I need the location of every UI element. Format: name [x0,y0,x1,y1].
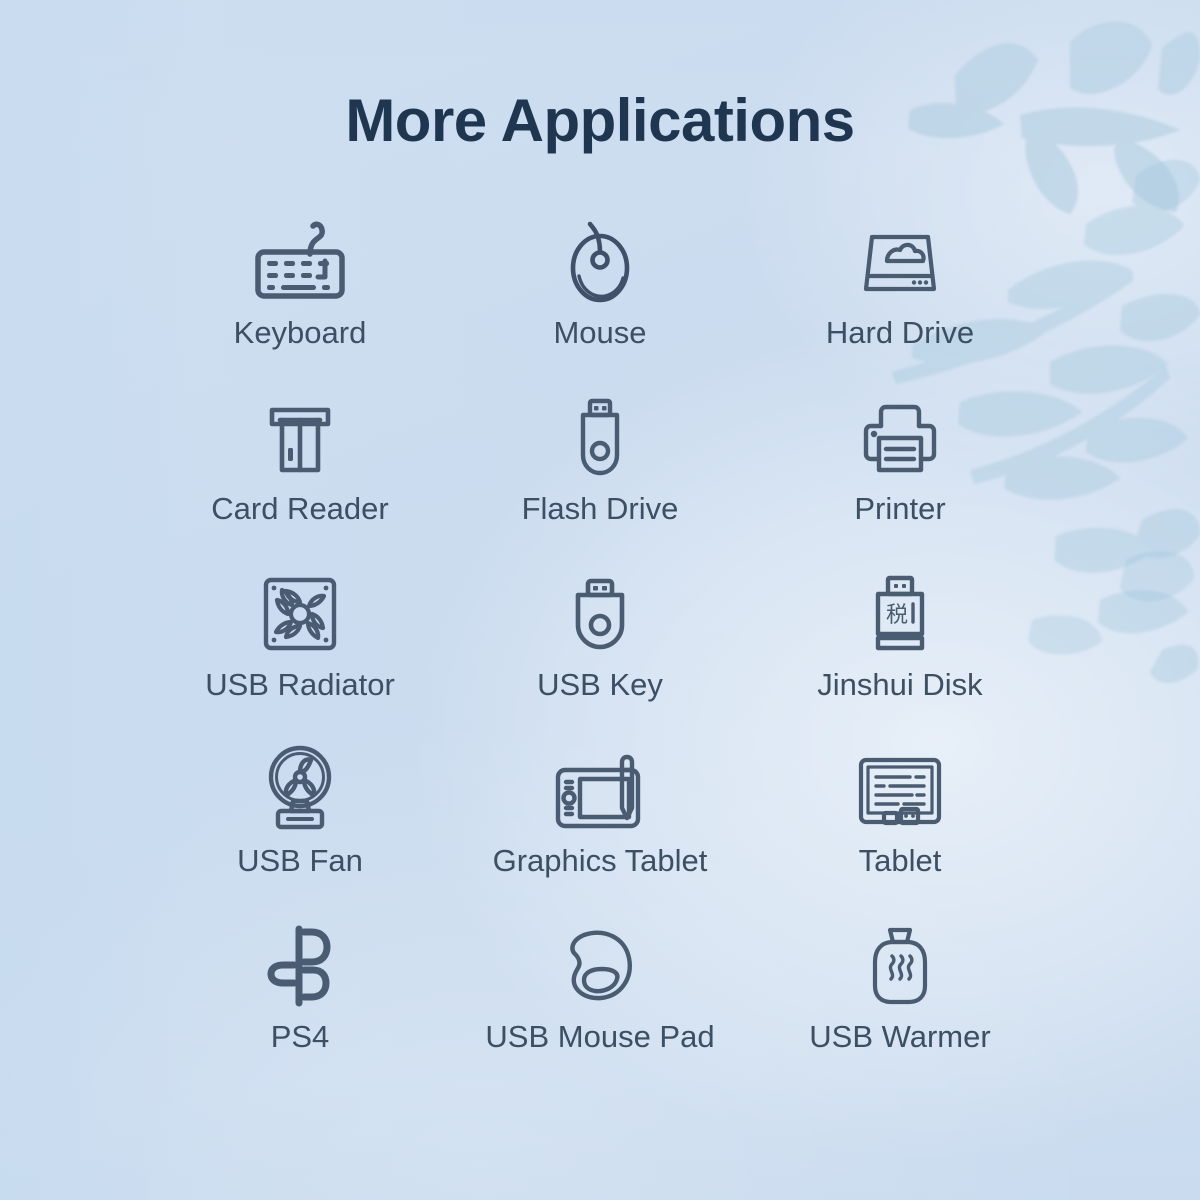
mouse-icon [563,214,637,310]
application-item-usb-mouse-pad[interactable]: USB Mouse Pad [450,918,750,1094]
application-item-usb-fan[interactable]: USB Fan [150,742,450,918]
application-item-hard-drive[interactable]: Hard Drive [750,214,1050,390]
application-label: Hard Drive [826,316,974,350]
usb-radiator-icon [260,566,340,662]
card-reader-icon [262,390,338,486]
keyboard-icon [250,214,350,310]
application-item-printer[interactable]: Printer [750,390,1050,566]
ps4-icon [265,918,335,1014]
application-label: USB Radiator [205,668,395,702]
application-label: USB Warmer [809,1020,990,1054]
application-label: USB Mouse Pad [485,1020,714,1054]
usb-fan-icon [260,742,340,838]
tablet-icon [854,742,946,838]
application-label: Graphics Tablet [493,844,708,878]
jinshui-disk-icon: 税 [868,566,932,662]
page-title: More Applications [0,86,1200,155]
application-label: Flash Drive [522,492,679,526]
application-item-mouse[interactable]: Mouse [450,214,750,390]
hard-drive-icon [859,214,941,310]
application-item-keyboard[interactable]: Keyboard [150,214,450,390]
flash-drive-icon [569,390,631,486]
application-item-usb-warmer[interactable]: USB Warmer [750,918,1050,1094]
usb-warmer-icon [865,918,935,1014]
application-label: Keyboard [234,316,367,350]
application-label: PS4 [271,1020,330,1054]
application-showcase-page: More Applications [0,0,1200,1200]
application-label: Printer [854,492,945,526]
application-item-card-reader[interactable]: Card Reader [150,390,450,566]
printer-icon [857,390,943,486]
application-item-tablet[interactable]: Tablet [750,742,1050,918]
application-item-jinshui-disk[interactable]: 税 Jinshui Disk [750,566,1050,742]
application-label: Card Reader [211,492,388,526]
usb-key-icon [566,566,634,662]
applications-grid: Keyboard Mouse [150,214,1050,1094]
usb-mouse-pad-icon [557,918,643,1014]
application-item-flash-drive[interactable]: Flash Drive [450,390,750,566]
application-label: USB Key [537,668,663,702]
application-label: Mouse [553,316,646,350]
application-label: Tablet [859,844,942,878]
application-item-usb-key[interactable]: USB Key [450,566,750,742]
application-item-usb-radiator[interactable]: USB Radiator [150,566,450,742]
application-item-ps4[interactable]: PS4 [150,918,450,1094]
application-label: USB Fan [237,844,363,878]
application-item-graphics-tablet[interactable]: Graphics Tablet [450,742,750,918]
jinshui-disk-glyph: 税 [886,603,908,628]
application-label: Jinshui Disk [817,668,982,702]
graphics-tablet-icon [550,742,650,838]
